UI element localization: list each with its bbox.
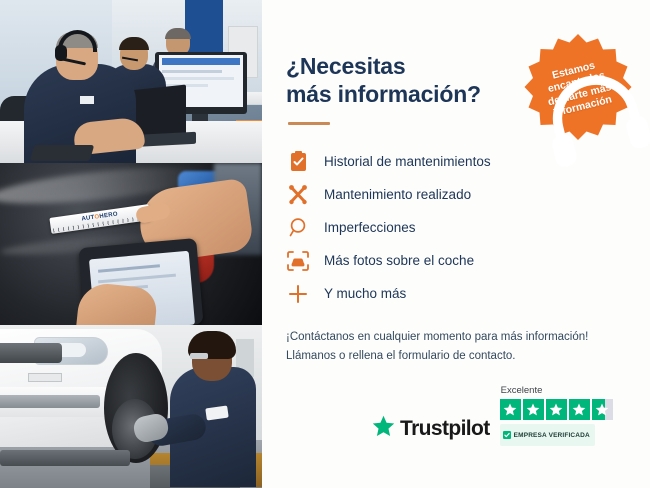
rating-star-partial: [592, 399, 613, 420]
photo1-screen-row: [162, 77, 234, 80]
photo1-screen-row: [162, 70, 222, 73]
contact-paragraph: ¡Contáctanos en cualquier momento para m…: [286, 328, 626, 365]
rating-label: Excelente: [501, 385, 543, 396]
title-divider: [288, 122, 330, 125]
feature-label: Mantenimiento realizado: [324, 187, 471, 202]
plus-icon: [286, 282, 310, 306]
headline-line-2: más información?: [286, 81, 481, 107]
trustpilot-widget[interactable]: Trustpilot Excelente: [372, 385, 613, 446]
promo-badge: Estamos encantados de darte más informac…: [522, 32, 634, 144]
feature-label: Historial de mantenimientos: [324, 154, 491, 169]
trustpilot-wordmark: Trustpilot: [400, 417, 490, 441]
feature-item-imperfecciones: Imperfecciones: [286, 211, 626, 244]
headline-line-1: ¿Necesitas: [286, 53, 405, 79]
verified-business-badge: EMPRESA VERIFICADA: [500, 424, 595, 446]
contact-line-1: ¡Contáctanos en cualquier momento para m…: [286, 331, 588, 343]
photo3-car-lift-arm: [0, 450, 130, 466]
car-photo-frame-icon: [286, 249, 310, 273]
verified-label: EMPRESA VERIFICADA: [514, 432, 590, 439]
clipboard-check-icon: [286, 150, 310, 174]
verified-check-icon: [503, 426, 511, 444]
star-rating: [500, 399, 613, 420]
photo1-screen-toolbar: [162, 58, 240, 65]
trustpilot-star-icon: [372, 415, 395, 442]
tools-cross-icon: [286, 183, 310, 207]
feature-label: Imperfecciones: [324, 220, 416, 235]
rating-star-filled: [500, 399, 521, 420]
photo3-bumper-vent: [0, 395, 100, 408]
photo-call-center-agents-with-headsets: [0, 0, 262, 163]
trustpilot-rating: Excelente: [500, 385, 613, 446]
feature-item-mucho-mas: Y mucho más: [286, 277, 626, 310]
trustpilot-logo[interactable]: Trustpilot: [372, 415, 490, 446]
photo-column: AUTOHERO: [0, 0, 262, 488]
rating-star-filled: [546, 399, 567, 420]
photo-autohero-ruler-inspecting-dark-car-with-tablet: AUTOHERO: [0, 163, 262, 325]
page-title: ¿Necesitas más información?: [286, 52, 536, 108]
photo-mechanic-inspecting-white-car-tire-on-lift: [0, 325, 262, 488]
photo1-blue-poster: [185, 0, 223, 58]
feature-item-mantenimiento: Mantenimiento realizado: [286, 178, 626, 211]
contact-line-2: Llámanos o rellena el formulario de cont…: [286, 350, 516, 362]
promo-banner: AUTOHERO: [0, 0, 650, 488]
rating-star-filled: [523, 399, 544, 420]
photo3-grille: [0, 343, 62, 363]
feature-label: Y mucho más: [324, 286, 406, 301]
feature-label: Más fotos sobre el coche: [324, 253, 474, 268]
ruler-text-part-1: AUT: [81, 215, 95, 223]
photo1-agent-3-hair: [165, 28, 191, 39]
feature-item-mas-fotos: Más fotos sobre el coche: [286, 244, 626, 277]
magnifier-icon: [286, 216, 310, 240]
rating-star-filled: [569, 399, 590, 420]
photo1-desk-tablet: [30, 145, 95, 161]
photo3-safety-glasses: [190, 353, 208, 359]
photo1-agent-1-name-badge: [80, 96, 94, 104]
photo3-license-plate: [28, 373, 62, 382]
content-panel: ¿Necesitas más información? Historial de…: [262, 0, 650, 488]
